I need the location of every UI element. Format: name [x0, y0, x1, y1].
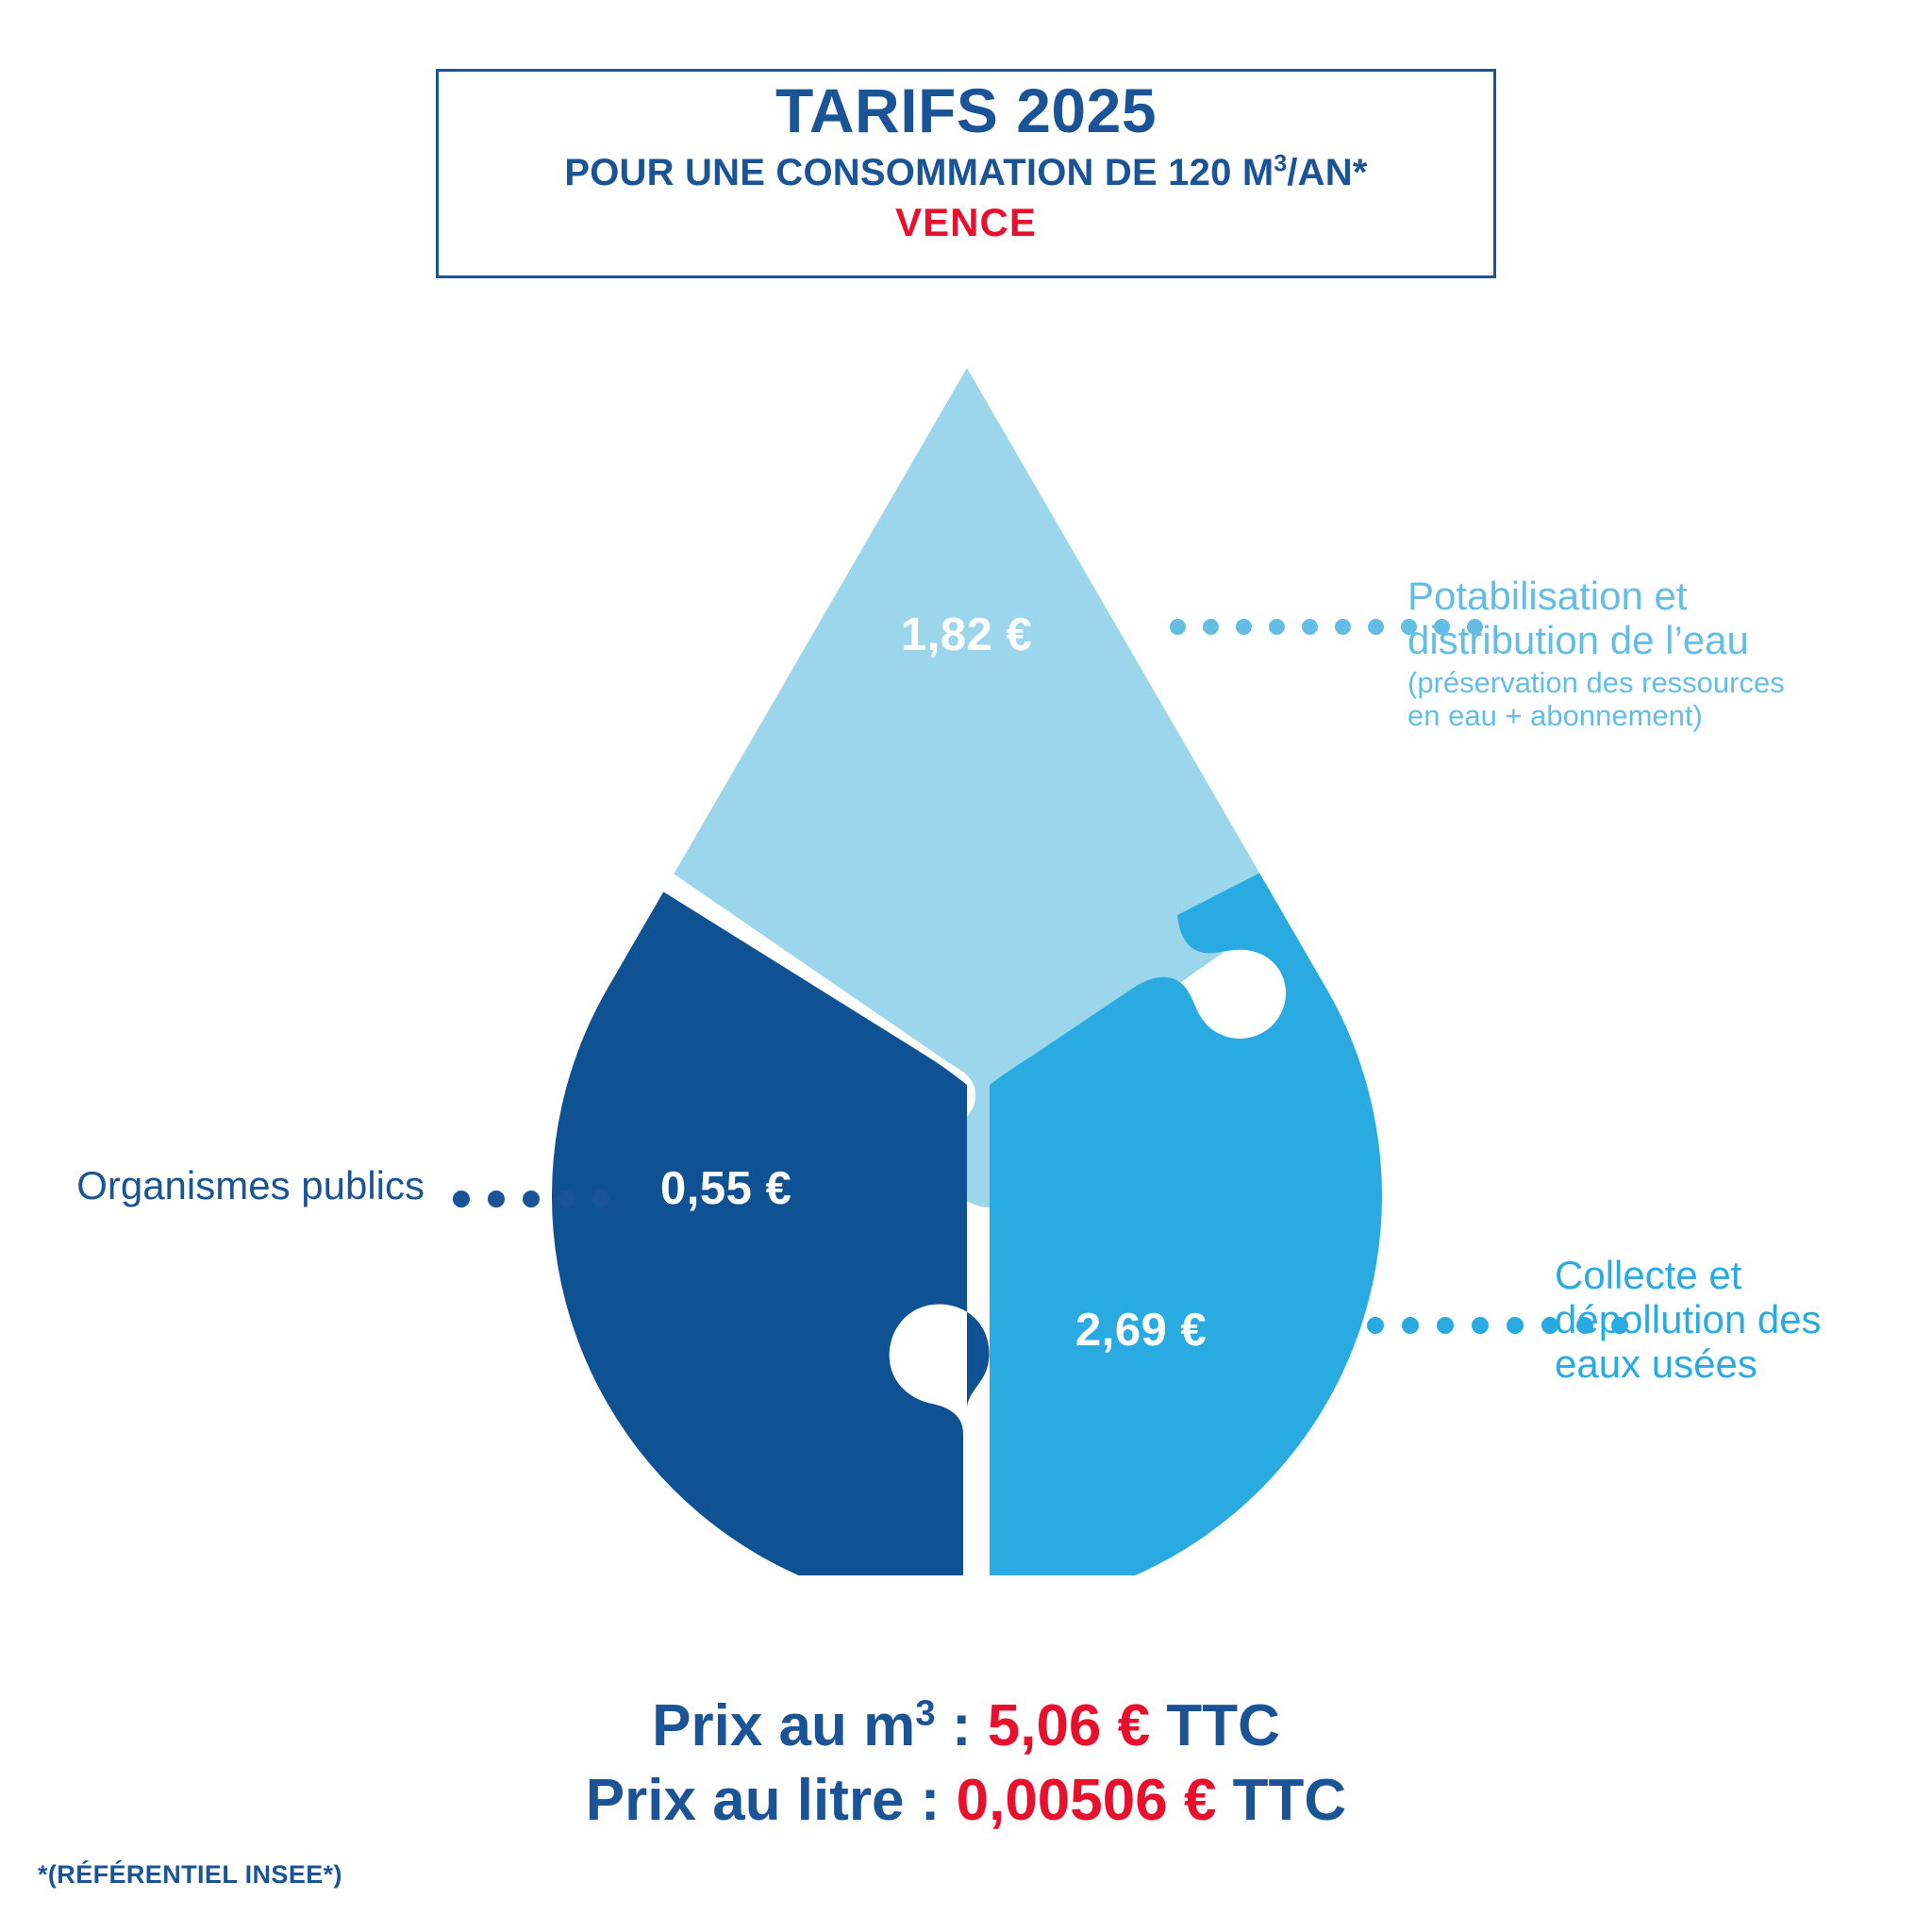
- header-box: TARIFS 2025 POUR UNE CONSOMMATION DE 120…: [436, 69, 1496, 278]
- price-m3-superscript: 3: [915, 1692, 935, 1733]
- dot: [1302, 619, 1318, 635]
- dot: [1269, 619, 1285, 635]
- page-title: TARIFS 2025: [775, 79, 1157, 142]
- dot: [523, 1191, 540, 1207]
- dot: [1367, 1317, 1384, 1334]
- price-m3-value: 5,06 €: [988, 1693, 1150, 1758]
- water-droplet-chart: [472, 340, 1472, 1575]
- header-city: VENCE: [895, 201, 1037, 244]
- callout-organismes: Organismes publics: [9, 1163, 425, 1207]
- dot: [558, 1191, 575, 1207]
- dot: [453, 1191, 470, 1207]
- header-subtitle-text: POUR UNE CONSOMMATION DE 120 M: [564, 152, 1274, 193]
- footnote: *(RÉFÉRENTIEL INSEE*): [38, 1860, 342, 1890]
- dot: [1335, 619, 1351, 635]
- segment-value-collecte: 2,69 €: [1075, 1304, 1207, 1357]
- header-subtitle: POUR UNE CONSOMMATION DE 120 M3/AN*: [564, 152, 1367, 193]
- price-m3-suffix: TTC: [1150, 1693, 1280, 1758]
- callout-potabilisation-note: (préservation des ressources en eau + ab…: [1407, 666, 1860, 733]
- price-summary: Prix au m3 : 5,06 € TTC Prix au litre : …: [0, 1689, 1932, 1839]
- header-subtitle-suffix: /AN*: [1287, 152, 1367, 193]
- dot: [488, 1191, 505, 1207]
- connector-dots-organismes: [453, 1191, 627, 1207]
- segment-value-potabilisation: 1,82 €: [901, 608, 1032, 661]
- price-per-cubic-meter: Prix au m3 : 5,06 € TTC: [0, 1689, 1932, 1763]
- price-litre-value: 0,00506 €: [957, 1768, 1217, 1833]
- segment-value-organismes: 0,55 €: [660, 1162, 791, 1215]
- callout-collecte: Collecte et dépollution des eaux usées: [1555, 1253, 1932, 1386]
- callout-collecte-title: Collecte et dépollution des eaux usées: [1555, 1253, 1932, 1386]
- dot: [1472, 1317, 1489, 1334]
- dot: [1368, 619, 1384, 635]
- price-m3-label: Prix au m: [652, 1693, 915, 1758]
- infographic-canvas: TARIFS 2025 POUR UNE CONSOMMATION DE 120…: [0, 0, 1932, 1932]
- dot: [1507, 1317, 1524, 1334]
- callout-organismes-title: Organismes publics: [9, 1163, 425, 1207]
- price-m3-separator: :: [936, 1693, 988, 1758]
- price-per-litre: Prix au litre : 0,00506 € TTC: [0, 1763, 1932, 1838]
- callout-potabilisation-title: Potabilisation et distribution de l’eau: [1407, 574, 1860, 662]
- dot: [1170, 619, 1186, 635]
- price-litre-suffix: TTC: [1216, 1768, 1346, 1833]
- dot: [1437, 1317, 1454, 1334]
- droplet-highlight-icon: [595, 520, 685, 725]
- dot: [1203, 619, 1219, 635]
- header-subtitle-superscript: 3: [1274, 152, 1287, 177]
- price-litre-label: Prix au litre :: [586, 1768, 957, 1833]
- dot: [592, 1191, 609, 1207]
- dot: [1236, 619, 1252, 635]
- callout-potabilisation: Potabilisation et distribution de l’eau …: [1407, 574, 1860, 733]
- dot: [1402, 1317, 1419, 1334]
- dot: [1332, 1317, 1349, 1334]
